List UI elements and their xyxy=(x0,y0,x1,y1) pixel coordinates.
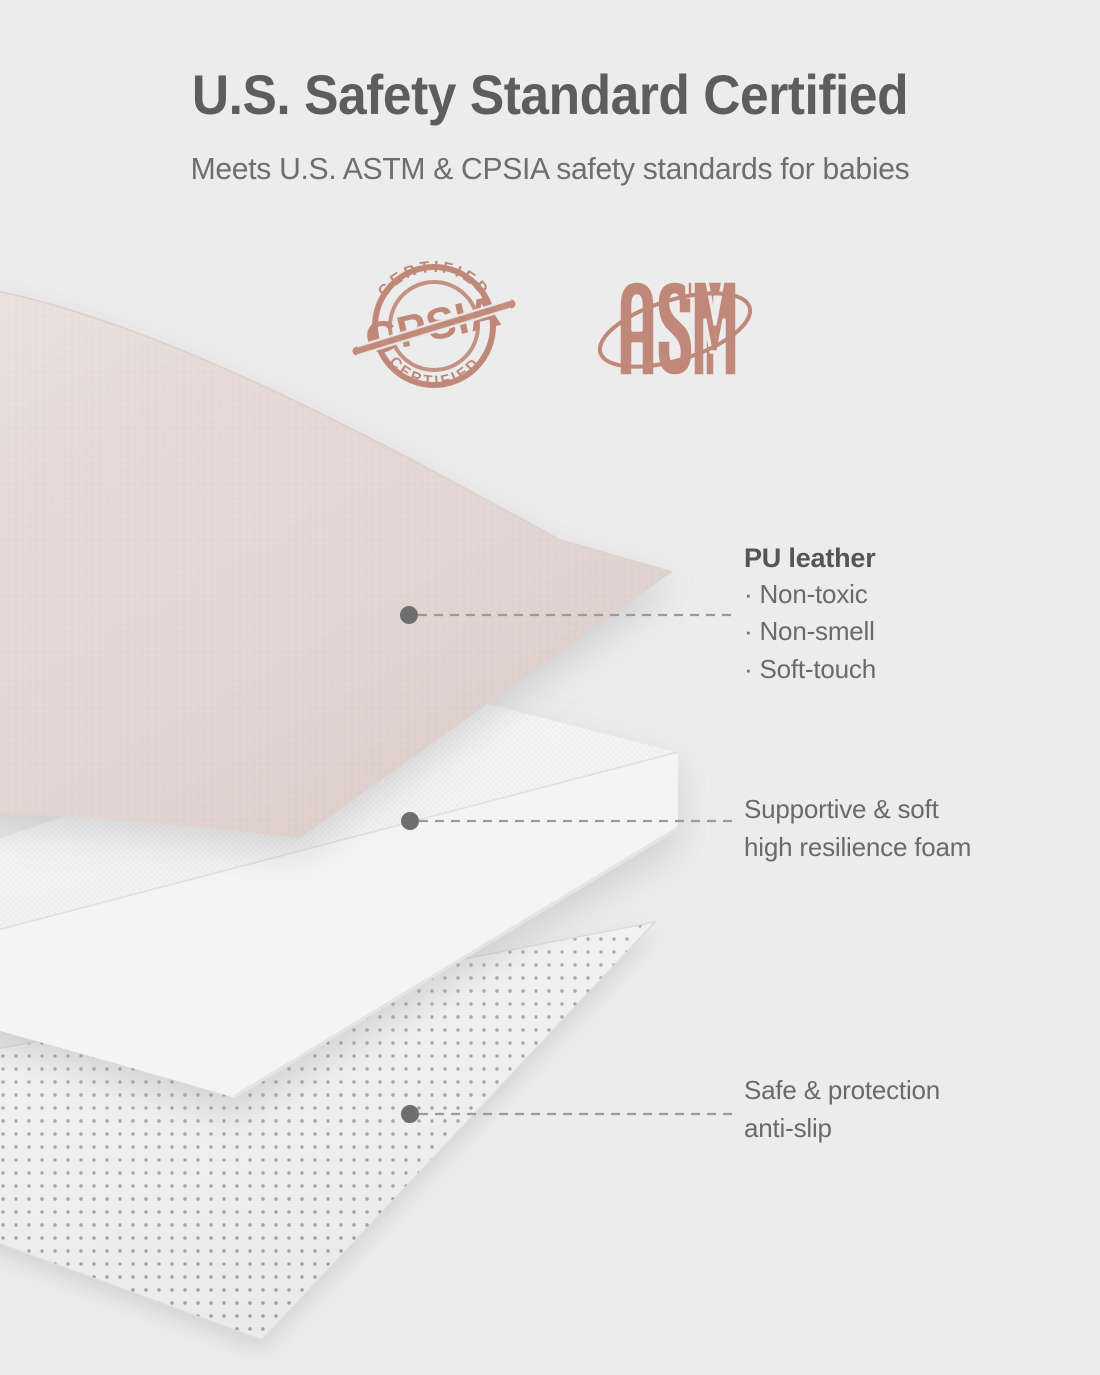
callout-foam-line-1: Supportive & soft xyxy=(744,791,971,829)
callout-anti-slip-line-2: anti-slip xyxy=(744,1110,940,1148)
page-title: U.S. Safety Standard Certified xyxy=(44,66,1056,125)
header: U.S. Safety Standard Certified Meets U.S… xyxy=(0,0,1100,187)
cpsia-badge-icon: CERTIFIED CERTIFIED CPSIA xyxy=(345,248,523,398)
layer-stack-illustration xyxy=(0,0,1100,1375)
astm-badge-icon xyxy=(589,248,755,398)
page-subtitle: Meets U.S. ASTM & CPSIA safety standards… xyxy=(17,151,1084,187)
callout-pu-leather-title: PU leather xyxy=(744,541,876,576)
callout-pu-leather-bullet-3: · Soft-touch xyxy=(744,651,876,689)
callout-foam: Supportive & soft high resilience foam xyxy=(744,791,971,866)
callout-anti-slip: Safe & protection anti-slip xyxy=(744,1072,940,1147)
callout-pu-leather-bullet-2: · Non-smell xyxy=(744,613,876,651)
callout-foam-line-2: high resilience foam xyxy=(744,829,971,867)
certification-badges: CERTIFIED CERTIFIED CPSIA xyxy=(0,248,1100,398)
leader-dot-pu-leather xyxy=(400,606,418,624)
leader-dot-anti-slip xyxy=(401,1105,419,1123)
callout-anti-slip-line-1: Safe & protection xyxy=(744,1072,940,1110)
callout-pu-leather: PU leather · Non-toxic · Non-smell · Sof… xyxy=(744,541,876,689)
callout-pu-leather-bullet-1: · Non-toxic xyxy=(744,576,876,614)
leader-dot-foam xyxy=(401,812,419,830)
